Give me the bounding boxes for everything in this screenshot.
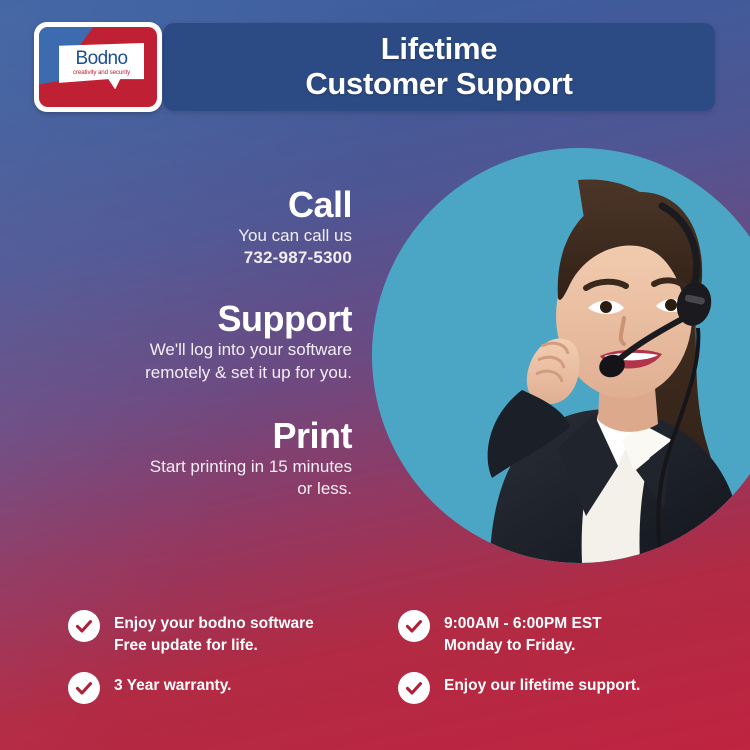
benefits-checklist: Enjoy your bodno software Free update fo…	[0, 610, 750, 704]
check-circle-icon	[68, 610, 100, 642]
info-heading-call: Call	[30, 185, 352, 225]
checklist-line-1: Enjoy your bodno software	[114, 615, 314, 632]
check-circle-icon	[398, 610, 430, 642]
info-block-print: Print Start printing in 15 minutes or le…	[30, 416, 352, 500]
info-heading-support: Support	[30, 299, 352, 339]
bodno-logo[interactable]: Bodno creativity and security	[34, 22, 162, 112]
logo-artwork: Bodno creativity and security	[39, 27, 157, 107]
check-circle-icon	[398, 672, 430, 704]
checklist-line-1: Enjoy our lifetime support.	[444, 677, 640, 694]
list-item: Enjoy your bodno software Free update fo…	[68, 610, 398, 656]
checklist-text: 3 Year warranty.	[114, 672, 231, 696]
checklist-line-1: 9:00AM - 6:00PM EST	[444, 615, 602, 632]
phone-number[interactable]: 732-987-5300	[30, 247, 352, 269]
info-heading-print: Print	[30, 416, 352, 456]
info-support-line-1: We'll log into your software	[30, 339, 352, 361]
checklist-text: Enjoy our lifetime support.	[444, 672, 640, 696]
list-item: Enjoy our lifetime support.	[398, 672, 728, 704]
header-banner: Lifetime Customer Support	[163, 23, 715, 111]
eye-right	[665, 299, 677, 311]
eye-left	[600, 301, 612, 313]
support-agent-illustration	[372, 148, 750, 563]
info-print-line-2: or less.	[30, 478, 352, 500]
logo-tagline: creativity and security	[73, 69, 130, 76]
title-line-2: Customer Support	[305, 67, 572, 102]
checklist-column-left: Enjoy your bodno software Free update fo…	[68, 610, 398, 704]
checklist-line-1: 3 Year warranty.	[114, 677, 231, 694]
info-print-line-1: Start printing in 15 minutes	[30, 456, 352, 478]
info-support-line-2: remotely & set it up for you.	[30, 362, 352, 384]
poster-canvas: Bodno creativity and security Lifetime C…	[0, 0, 750, 750]
checklist-line-2: Free update for life.	[114, 635, 314, 656]
checklist-line-2: Monday to Friday.	[444, 635, 602, 656]
list-item: 9:00AM - 6:00PM EST Monday to Friday.	[398, 610, 728, 656]
logo-card-shape: Bodno creativity and security	[59, 43, 144, 89]
info-call-line-1: You can call us	[30, 225, 352, 247]
info-block-call: Call You can call us 732-987-5300	[30, 185, 352, 269]
checklist-text: 9:00AM - 6:00PM EST Monday to Friday.	[444, 610, 602, 656]
checklist-column-right: 9:00AM - 6:00PM EST Monday to Friday. En…	[398, 610, 728, 704]
check-circle-icon	[68, 672, 100, 704]
info-block-support: Support We'll log into your software rem…	[30, 299, 352, 383]
info-column: Call You can call us 732-987-5300 Suppor…	[30, 185, 352, 500]
checklist-text: Enjoy your bodno software Free update fo…	[114, 610, 314, 656]
page-title: Lifetime Customer Support	[305, 32, 572, 101]
logo-wordmark: Bodno	[76, 49, 128, 68]
agent-photo-circle	[372, 148, 750, 563]
title-line-1: Lifetime	[381, 31, 497, 66]
list-item: 3 Year warranty.	[68, 672, 398, 704]
